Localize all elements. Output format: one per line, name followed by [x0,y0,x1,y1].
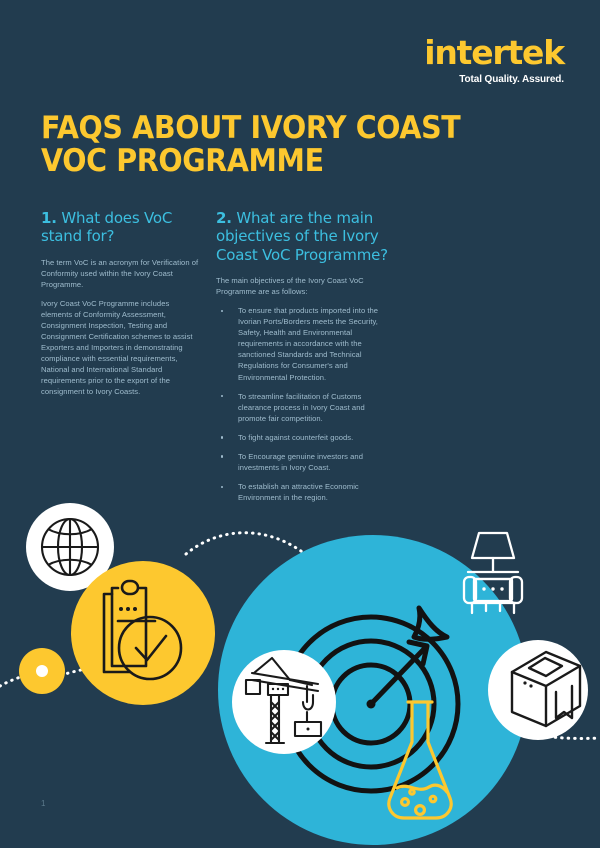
faq-column-left: 1. What does VoC stand for? The term VoC… [41,209,201,406]
question-1-number: 1. [41,209,57,227]
question-1-heading: 1. What does VoC stand for? [41,209,201,246]
list-item-text: To Encourage genuine investors and inves… [238,452,363,472]
faq-page: intertek Total Quality. Assured. FAQS AB… [0,0,600,848]
question-2-text: What are the main objectives of the Ivor… [216,209,388,264]
logo-wordmark: intertek [424,36,564,69]
yellow-circle [71,561,215,705]
list-item: To streamline facilitation of Customs cl… [216,391,388,424]
faq-column-right: 2. What are the main objectives of the I… [216,209,388,511]
page-number: 1 [41,799,45,808]
dotted-connector-yellow-to-cyan [186,533,310,558]
white-circle [232,650,336,754]
clipboard-check-icon-badge [71,561,215,705]
question-2-heading: 2. What are the main objectives of the I… [216,209,388,264]
list-item: To Encourage genuine investors and inves… [216,451,388,473]
dot-center [36,665,48,677]
bullet-dot-icon [221,310,223,312]
bullet-dot-icon [221,395,223,397]
globe-icon [42,519,98,575]
objectives-list: To ensure that products imported into th… [216,305,388,503]
answer-1-paragraph: The term VoC is an acronym for Verificat… [41,257,201,290]
question-2-number: 2. [216,209,232,227]
list-item: To fight against counterfeit goods. [216,432,388,443]
answer-2-intro: The main objectives of the Ivory Coast V… [216,275,388,297]
page-title: FAQS ABOUT IVORY COAST VOC PROGRAMME [41,112,519,179]
question-1-text: What does VoC stand for? [41,209,172,245]
package-icon-badge [488,640,588,740]
list-item-text: To streamline facilitation of Customs cl… [238,392,365,423]
intertek-logo: intertek Total Quality. Assured. [424,36,564,85]
list-item-text: To fight against counterfeit goods. [238,433,353,442]
illustration-graphic [0,480,600,848]
bullet-dot-icon [221,436,223,438]
small-dot-marker [19,648,65,694]
list-item: To ensure that products imported into th… [216,305,388,383]
logo-tagline: Total Quality. Assured. [424,74,564,85]
answer-1-paragraph: Ivory Coast VoC Programme includes eleme… [41,298,201,398]
bullet-dot-icon [221,455,223,457]
list-item-text: To ensure that products imported into th… [238,306,378,381]
crane-icon-badge [232,650,336,754]
